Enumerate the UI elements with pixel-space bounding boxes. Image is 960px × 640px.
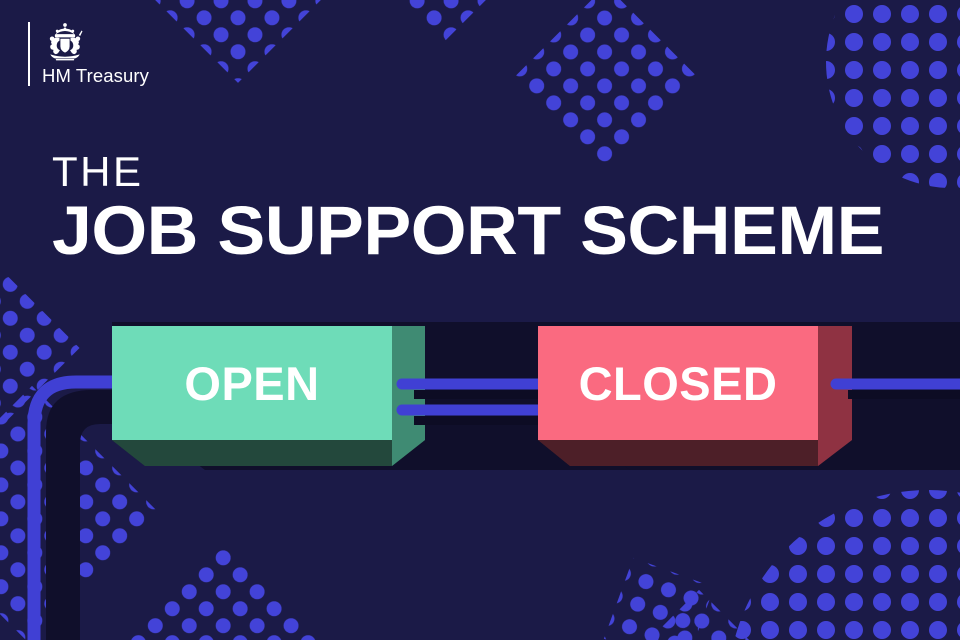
logo-divider-rule	[28, 22, 30, 86]
closed-box: CLOSED	[0, 0, 960, 640]
closed-box-front-face: CLOSED	[538, 326, 818, 440]
hm-treasury-logo: HM Treasury	[28, 22, 149, 86]
logo-department-name: HM Treasury	[42, 66, 149, 86]
job-support-scheme-graphic: OPEN CLOSED	[0, 0, 960, 640]
title-block: THE JOB SUPPORT SCHEME	[52, 150, 852, 268]
royal-crest-icon	[42, 22, 88, 62]
closed-box-bottom-wedge	[538, 440, 818, 466]
title-headline: JOB SUPPORT SCHEME	[52, 194, 884, 268]
closed-box-bottom-face	[538, 440, 852, 466]
title-eyebrow: THE	[52, 150, 852, 194]
closed-box-side-face	[818, 326, 852, 466]
closed-box-label: CLOSED	[579, 360, 778, 407]
